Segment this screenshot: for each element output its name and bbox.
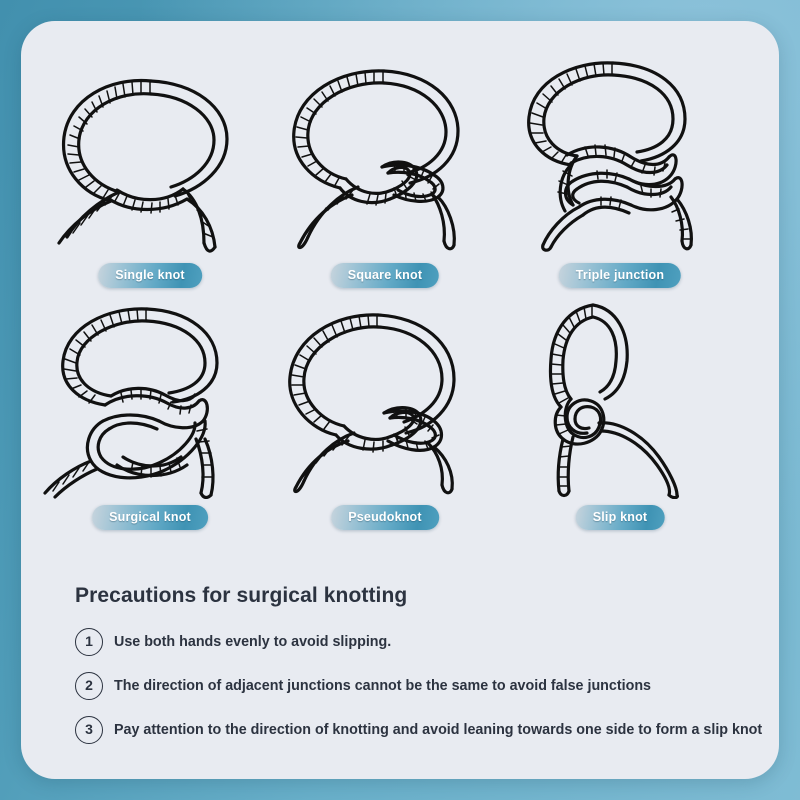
precaution-text-2: The direction of adjacent junctions cann… [114, 678, 651, 694]
knot-diagram-grid: Single knot [21, 27, 779, 567]
knot-label-slip-knot: Slip knot [576, 505, 665, 530]
knot-card-surgical-knot[interactable]: Surgical knot [31, 289, 269, 544]
knot-label-surgical-knot: Surgical knot [92, 505, 208, 530]
precaution-number-3: 3 [75, 716, 103, 744]
knot-card-triple-junction[interactable]: Triple junction [501, 47, 739, 302]
knot-label-square-knot: Square knot [331, 263, 439, 288]
precaution-text-3: Pay attention to the direction of knotti… [114, 722, 762, 738]
single-knot-illustration [31, 47, 269, 257]
knot-card-slip-knot[interactable]: Slip knot [501, 289, 739, 544]
precaution-number-1: 1 [75, 628, 103, 656]
slip-knot-illustration [501, 289, 739, 499]
knot-label-single-knot: Single knot [98, 263, 202, 288]
precautions-section: Precautions for surgical knotting 1 Use … [75, 584, 779, 760]
precaution-text-1: Use both hands evenly to avoid slipping. [114, 634, 391, 650]
precaution-item-1: 1 Use both hands evenly to avoid slippin… [75, 628, 779, 656]
precautions-title: Precautions for surgical knotting [75, 584, 779, 608]
precaution-item-3: 3 Pay attention to the direction of knot… [75, 716, 779, 744]
precaution-number-2: 2 [75, 672, 103, 700]
precaution-item-2: 2 The direction of adjacent junctions ca… [75, 672, 779, 700]
pseudoknot-illustration [266, 289, 504, 499]
poster-root: Single knot [0, 0, 800, 800]
surgical-knot-illustration [31, 289, 269, 499]
knot-label-pseudoknot: Pseudoknot [331, 505, 439, 530]
knot-card-pseudoknot[interactable]: Pseudoknot [266, 289, 504, 544]
knot-card-square-knot[interactable]: Square knot [266, 47, 504, 302]
triple-junction-illustration [501, 47, 739, 257]
knot-card-single-knot[interactable]: Single knot [31, 47, 269, 302]
content-panel: Single knot [21, 21, 779, 779]
square-knot-illustration [266, 47, 504, 257]
knot-label-triple-junction: Triple junction [559, 263, 681, 288]
